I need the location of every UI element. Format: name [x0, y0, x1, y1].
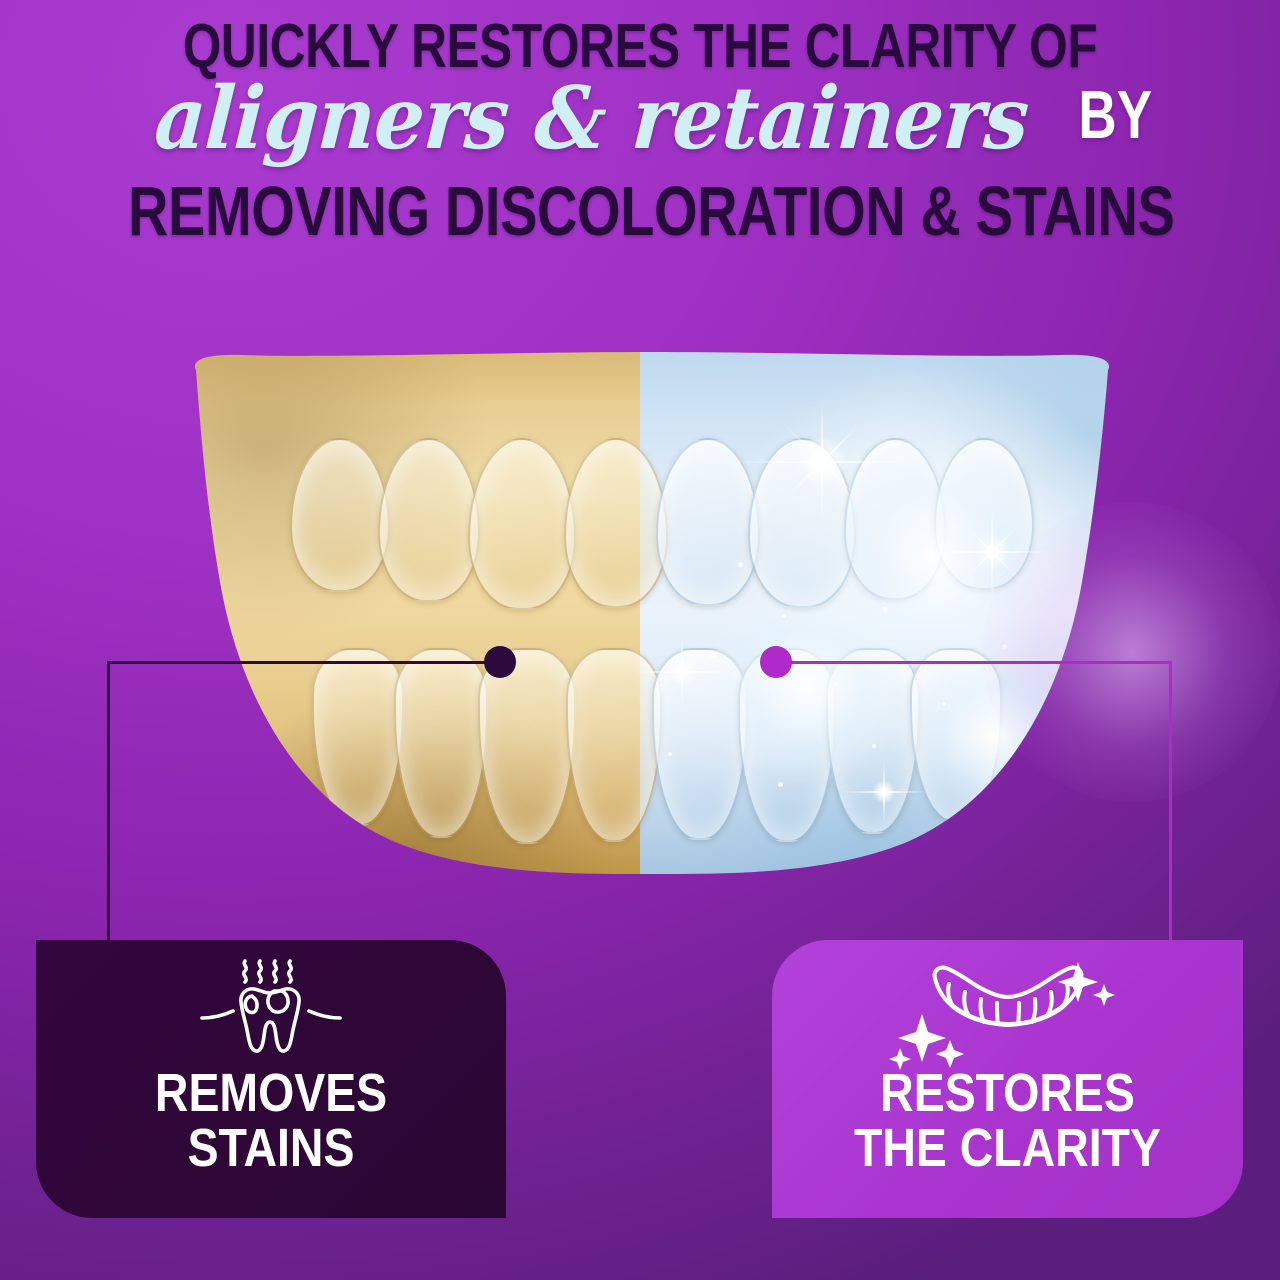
sparkling-aligner-icon [913, 958, 1103, 1062]
stained-tooth-icon [196, 958, 346, 1062]
headline-line-3: REMOVING DISCOLORATION & STAINS [128, 176, 1152, 246]
connector-left-vertical [107, 661, 110, 953]
infographic-canvas: QUICKLY RESTORES THE CLARITY OF aligners… [0, 0, 1280, 1280]
callout-label-restores-clarity: RESTORES THE CLARITY [854, 1066, 1161, 1176]
headline-line-2: aligners & retainersBY [0, 76, 1280, 172]
callout-label-line-2: THE CLARITY [854, 1121, 1161, 1176]
connector-right-dot [760, 646, 792, 678]
callout-label-line-1: REMOVES [155, 1063, 387, 1123]
connector-left-horizontal [108, 661, 502, 664]
headline-script-text: aligners & retainers [153, 76, 1031, 162]
headline-by-text: BY [1079, 81, 1153, 149]
connector-left-dot [484, 646, 516, 678]
connector-right-vertical [1169, 661, 1172, 953]
connector-right-horizontal [778, 661, 1172, 664]
callout-label-line-1: RESTORES [880, 1063, 1135, 1123]
callout-card-removes-stains[interactable]: REMOVES STAINS [36, 940, 506, 1218]
callout-label-line-2: STAINS [155, 1121, 387, 1176]
callout-label-removes-stains: REMOVES STAINS [155, 1066, 387, 1176]
callout-card-restores-clarity[interactable]: RESTORES THE CLARITY [772, 940, 1243, 1218]
headline-block: QUICKLY RESTORES THE CLARITY OF aligners… [0, 16, 1280, 246]
